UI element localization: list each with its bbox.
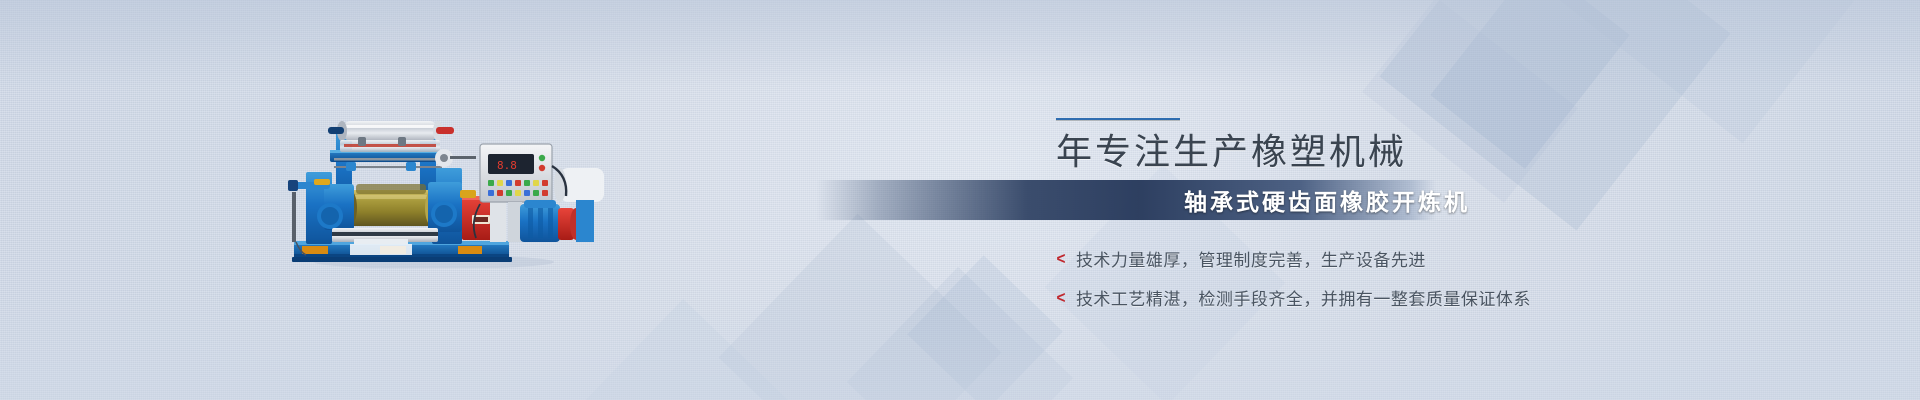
rubber-mixing-mill-image: 8.8: [284, 96, 604, 268]
chevron-left-icon: <: [1056, 289, 1065, 306]
feature-list: < 技术力量雄厚，管理制度完善，生产设备先进 < 技术工艺精湛，检测手段齐全，并…: [1056, 246, 1531, 324]
list-item-label: 技术力量雄厚，管理制度完善，生产设备先进: [1076, 246, 1426, 271]
watermark-shape: [907, 255, 1063, 400]
chevron-left-icon: <: [1056, 250, 1065, 267]
accent-rule: [1056, 118, 1180, 121]
banner-content: 年专注生产橡塑机械 轴承式硬齿面橡胶开炼机 < 技术力量雄厚，管理制度完善，生产…: [1056, 118, 1696, 171]
promo-banner: 8.8: [0, 0, 1920, 400]
list-item: < 技术力量雄厚，管理制度完善，生产设备先进: [1056, 246, 1531, 271]
watermark-shape: [847, 267, 1073, 400]
subtitle-plate: 轴承式硬齿面橡胶开炼机: [816, 180, 1436, 220]
list-item-label: 技术工艺精湛，检测手段齐全，并拥有一整套质量保证体系: [1076, 285, 1531, 310]
watermark-shape: [579, 299, 791, 400]
subtitle-text: 轴承式硬齿面橡胶开炼机: [1184, 183, 1470, 217]
watermark-shape: [1362, 0, 1578, 203]
list-item: < 技术工艺精湛，检测手段齐全，并拥有一整套质量保证体系: [1056, 285, 1531, 310]
svg-text:8.8: 8.8: [497, 159, 517, 172]
watermark-shape: [719, 214, 1002, 400]
banner-headline: 年专注生产橡塑机械: [1056, 133, 1696, 171]
